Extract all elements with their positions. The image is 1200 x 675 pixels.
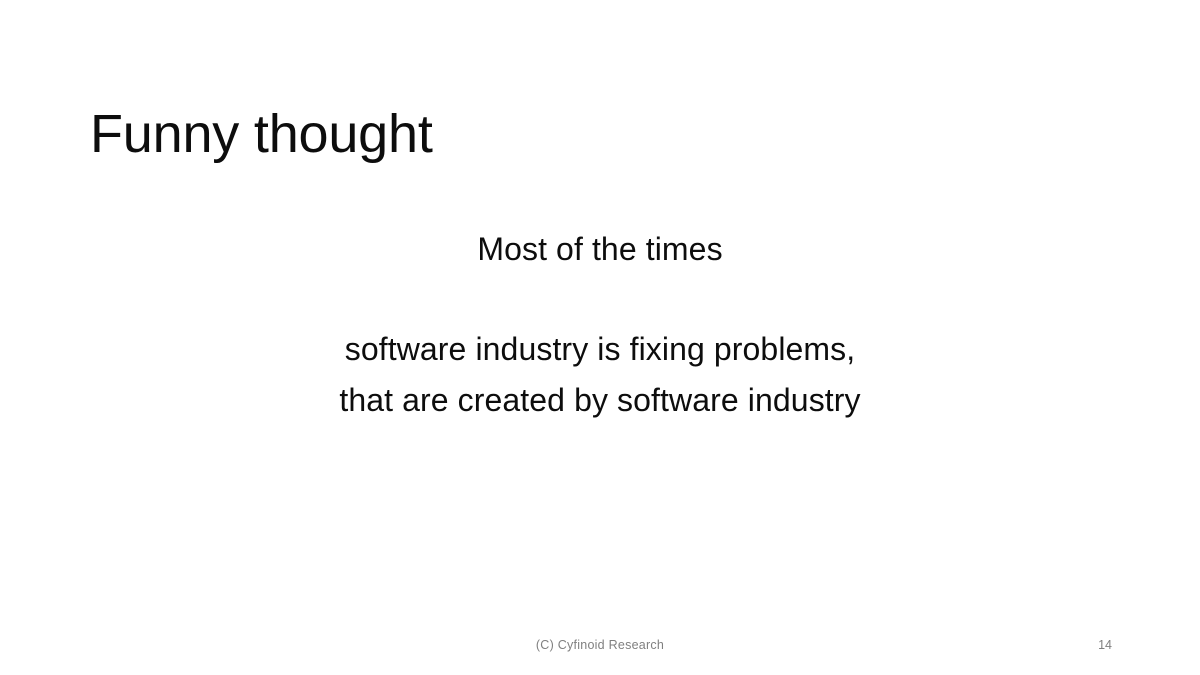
slide-body: Most of the times software industry is f… (0, 224, 1200, 426)
slide-canvas: Funny thought Most of the times software… (0, 0, 1200, 675)
body-line-1: Most of the times (0, 224, 1200, 275)
footer-copyright: (C) Cyfinoid Research (0, 636, 1200, 654)
body-line-2: software industry is fixing problems, (0, 324, 1200, 375)
page-title: Funny thought (90, 100, 433, 168)
slide-page-number: 14 (1098, 636, 1112, 654)
body-spacer (0, 275, 1200, 324)
body-line-3: that are created by software industry (0, 375, 1200, 426)
